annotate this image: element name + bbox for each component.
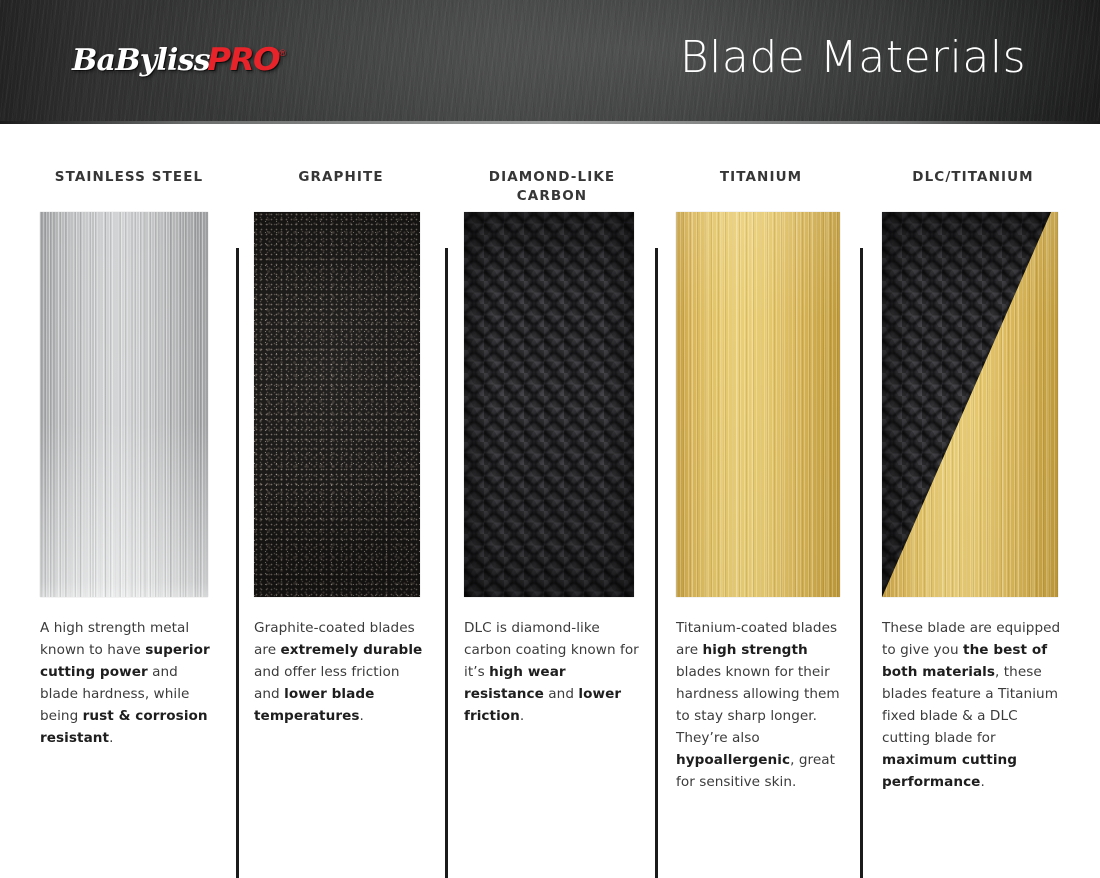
brand-logo-primary-text: BaByliss (72, 43, 210, 78)
graphite-speckle-texture (254, 212, 420, 597)
material-description: DLC is diamond-like carbon coating known… (464, 617, 640, 727)
material-column-dlc-titanium: DLC/TITANIUM These blade are equipped to… (864, 168, 1064, 793)
material-column-graphite: GRAPHITE Graphite-coated blades are extr… (236, 168, 446, 727)
brand-logo-secondary-text: PRO (207, 42, 279, 78)
material-columns: STAINLESS STEEL A high strength metal kn… (40, 168, 1064, 793)
material-heading: DIAMOND-LIKE CARBON (464, 168, 640, 210)
material-heading: STAINLESS STEEL (40, 168, 218, 210)
material-description: Graphite-coated blades are extremely dur… (254, 617, 428, 727)
page-title: Blade Materials (680, 36, 1026, 80)
material-swatch-dlc-titanium (882, 212, 1058, 597)
material-heading: GRAPHITE (254, 168, 428, 210)
material-description: These blade are equipped to give you the… (882, 617, 1064, 793)
material-description: Titanium-coated blades are high strength… (676, 617, 846, 793)
brushed-gold-texture (676, 212, 840, 597)
material-swatch-titanium (676, 212, 840, 597)
material-column-titanium: TITANIUM Titanium-coated blades are high… (658, 168, 864, 793)
material-swatch-graphite (254, 212, 420, 597)
material-heading: TITANIUM (676, 168, 846, 210)
material-column-stainless-steel: STAINLESS STEEL A high strength metal kn… (40, 168, 236, 749)
registered-trademark-icon: ® (279, 48, 286, 58)
material-swatch-dlc (464, 212, 634, 597)
material-swatch-stainless-steel (40, 212, 208, 597)
materials-board: STAINLESS STEEL A high strength metal kn… (0, 124, 1100, 847)
hexagon-carbon-texture (464, 212, 634, 597)
brushed-steel-texture (40, 212, 208, 597)
brand-logo[interactable]: BaByliss PRO ® (72, 42, 284, 78)
material-heading: DLC/TITANIUM (882, 168, 1064, 210)
page-header: BaByliss PRO ® Blade Materials (0, 0, 1100, 124)
material-description: A high strength metal known to have supe… (40, 617, 218, 749)
material-column-diamond-like-carbon: DIAMOND-LIKE CARBON DLC is diamond-like … (446, 168, 658, 727)
